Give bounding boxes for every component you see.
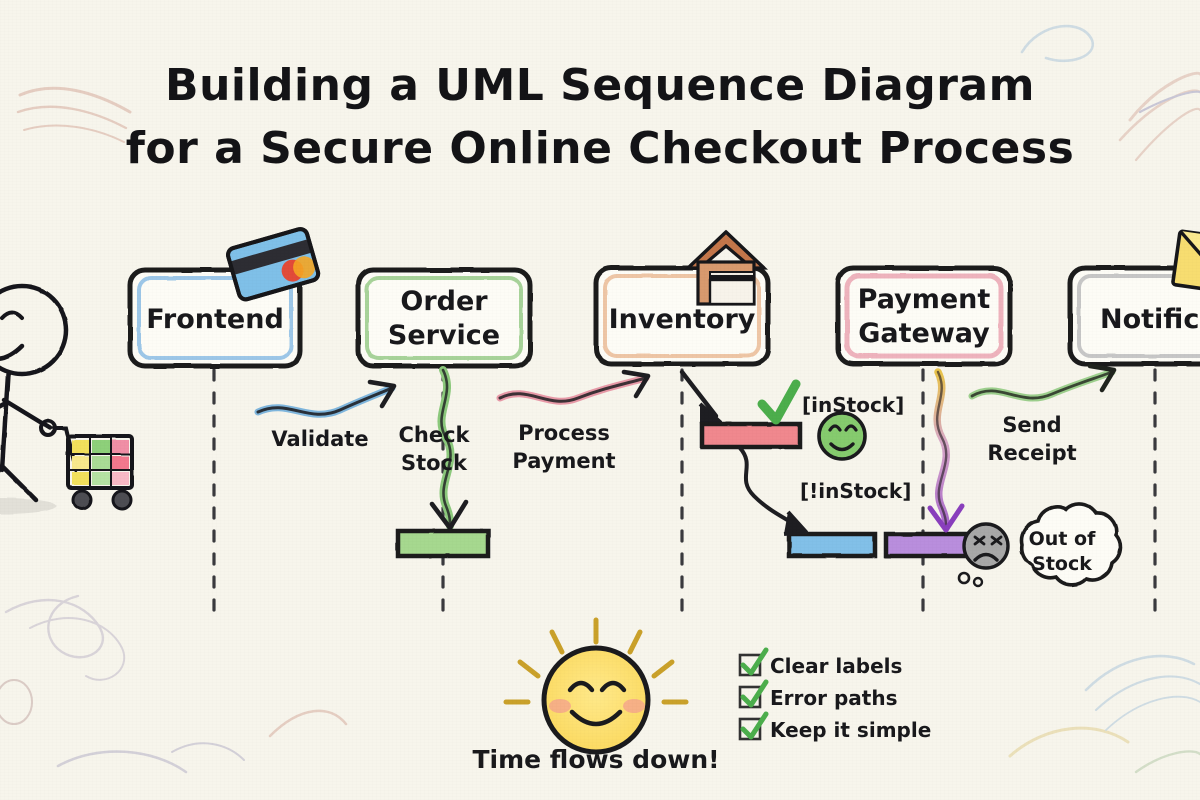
activation-payment-purple bbox=[886, 534, 966, 556]
green-smiley-icon bbox=[819, 413, 865, 459]
checklist-label-2: Keep it simple bbox=[770, 718, 931, 742]
sun-smiley-icon bbox=[506, 620, 686, 752]
message-label-check-stock-line2: Stock bbox=[401, 451, 468, 475]
message-label-process-payment-line1: Process bbox=[518, 421, 610, 445]
message-label-send-receipt-line1: Send bbox=[1002, 413, 1061, 437]
footer-caption: Time flows down! bbox=[472, 745, 719, 774]
activation-order-service bbox=[398, 531, 488, 556]
message-label-process-payment-line2: Payment bbox=[512, 449, 615, 473]
warehouse-icon bbox=[688, 232, 764, 304]
page-title: Building a UML Sequence Diagram for a Se… bbox=[126, 60, 1075, 174]
checklist-item-1[interactable]: Error paths bbox=[740, 682, 897, 710]
shopping-cart-icon bbox=[54, 428, 132, 509]
message-label-validate: Validate bbox=[271, 427, 368, 451]
participant-label-order-service-line2: Service bbox=[388, 320, 500, 351]
thought-cloud-line1: Out of bbox=[1029, 528, 1096, 550]
envelope-icon bbox=[1173, 231, 1200, 295]
message-process-payment: Process Payment bbox=[500, 372, 648, 473]
participant-label-inventory: Inventory bbox=[609, 304, 756, 335]
message-label-check-stock-line1: Check bbox=[398, 423, 470, 447]
participant-label-notification: Notificat bbox=[1100, 304, 1200, 335]
participant-label-frontend: Frontend bbox=[146, 304, 284, 335]
participant-box-order-service[interactable]: Order Service bbox=[358, 270, 530, 366]
illustration-canvas: Building a UML Sequence Diagram for a Se… bbox=[0, 0, 1200, 800]
credit-card-icon bbox=[226, 227, 319, 301]
activation-inventory-blue bbox=[789, 534, 875, 556]
guard-label-instock: [inStock] bbox=[802, 393, 904, 417]
checklist: Clear labels Error paths Keep it simple bbox=[740, 650, 931, 742]
guard-label-not-instock: [!inStock] bbox=[800, 479, 911, 503]
participant-label-payment-line1: Payment bbox=[858, 284, 991, 315]
message-label-send-receipt-line2: Receipt bbox=[987, 441, 1076, 465]
thought-cloud-line2: Stock bbox=[1032, 553, 1092, 575]
title-line-2: for a Secure Online Checkout Process bbox=[126, 123, 1075, 174]
checklist-label-0: Clear labels bbox=[770, 654, 902, 678]
message-check-stock: Check Stock bbox=[398, 370, 470, 528]
arrow-to-inventory-activation bbox=[682, 372, 720, 424]
title-line-1: Building a UML Sequence Diagram bbox=[165, 60, 1035, 111]
green-check-icon bbox=[762, 384, 796, 420]
thought-cloud: Out of Stock bbox=[1022, 504, 1121, 585]
message-validate: Validate bbox=[258, 382, 394, 451]
message-payment-to-activation bbox=[930, 372, 962, 530]
participant-label-payment-line2: Gateway bbox=[858, 318, 990, 349]
checklist-item-0[interactable]: Clear labels bbox=[740, 650, 902, 678]
checklist-item-2[interactable]: Keep it simple bbox=[740, 714, 931, 742]
gray-sad-face-icon bbox=[959, 524, 1008, 586]
customer-stick-figure bbox=[0, 286, 66, 514]
message-not-instock: [!inStock] bbox=[740, 448, 911, 534]
activation-inventory-red bbox=[702, 424, 800, 447]
participant-box-payment-gateway[interactable]: Payment Gateway bbox=[838, 268, 1010, 364]
checklist-label-1: Error paths bbox=[770, 686, 897, 710]
message-send-receipt: Send Receipt bbox=[972, 366, 1114, 465]
participant-label-order-service-line1: Order bbox=[400, 286, 488, 317]
